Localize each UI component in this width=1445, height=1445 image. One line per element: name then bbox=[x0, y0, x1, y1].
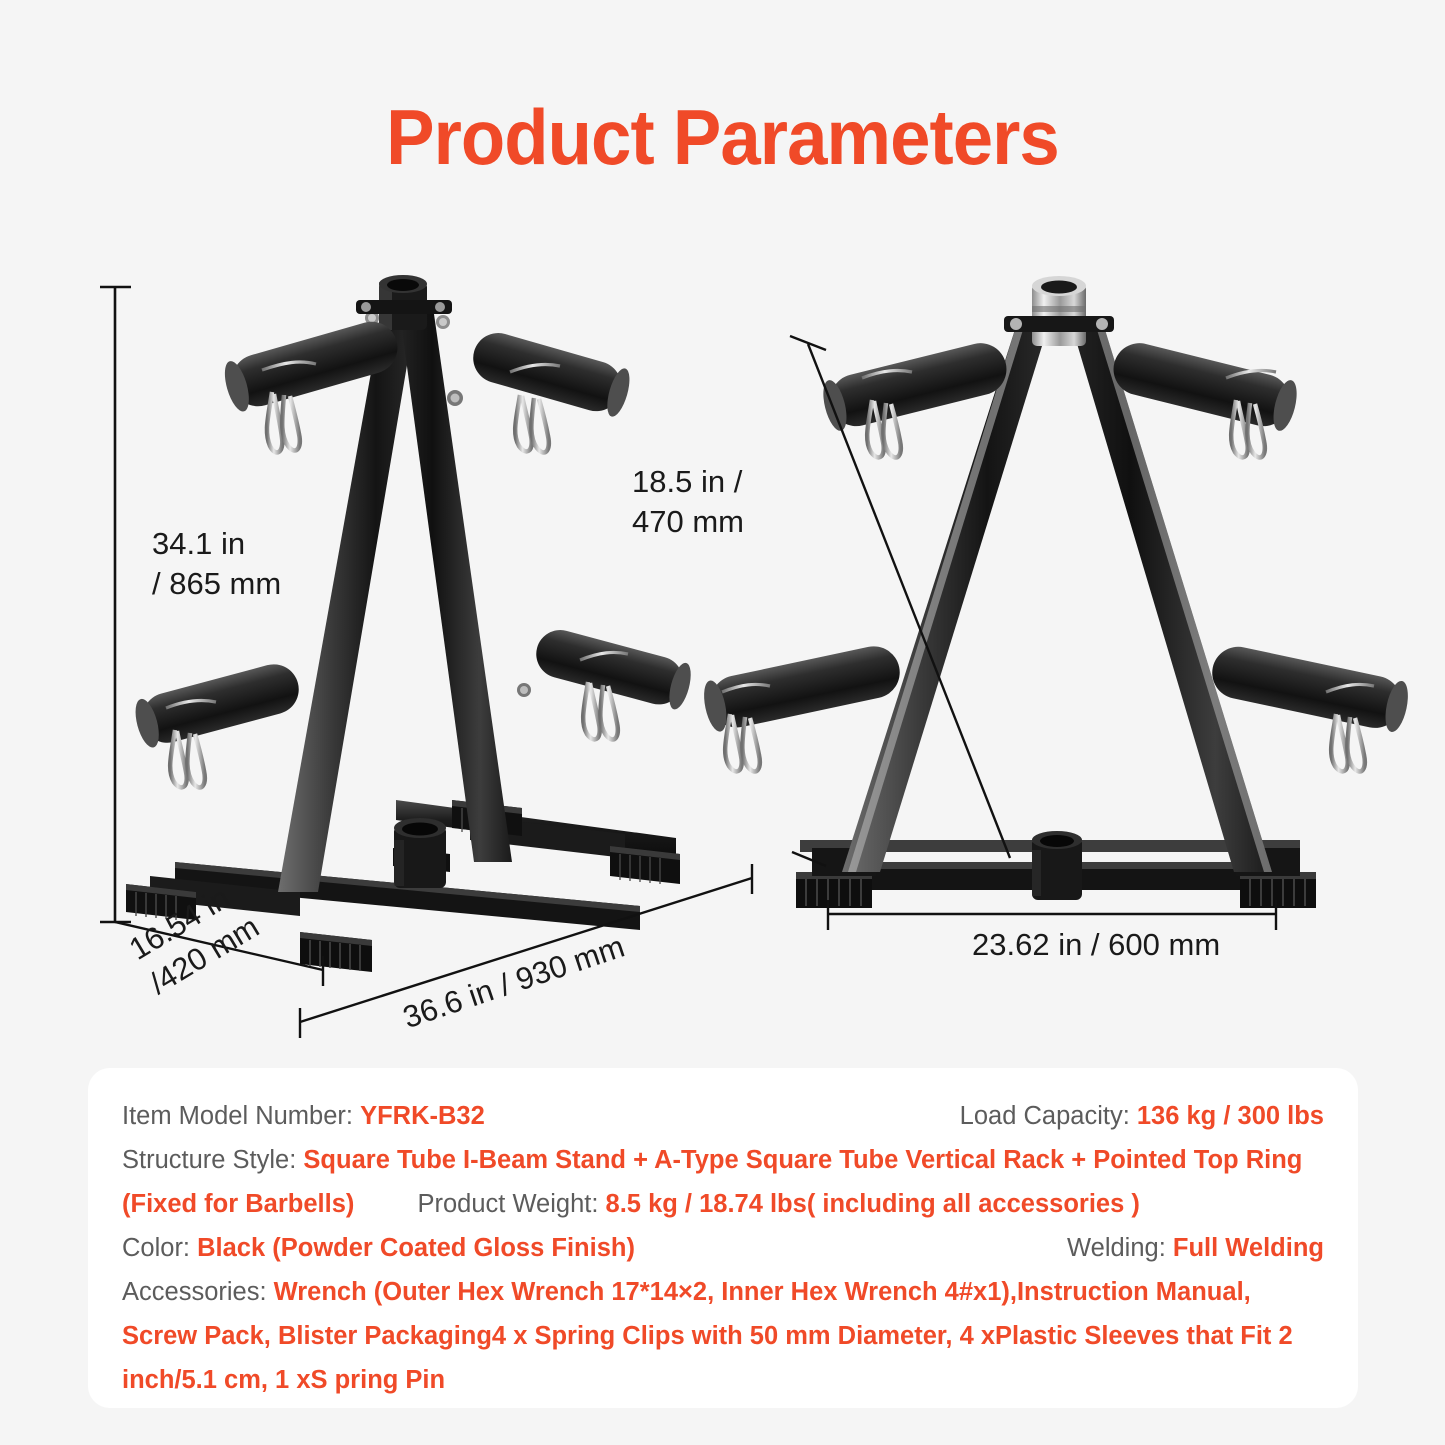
dimension-line-height bbox=[100, 287, 131, 922]
spec-label-structure-style: Structure Style: bbox=[122, 1146, 296, 1174]
barbell-holder-tube bbox=[1032, 831, 1082, 900]
spec-row-accessories: Accessories: Wrench (Outer Hex Wrench 17… bbox=[122, 1270, 1324, 1402]
spec-item-color: Color: Black (Powder Coated Gloss Finish… bbox=[122, 1226, 635, 1270]
product-parameters-page: Product Parameters bbox=[0, 0, 1445, 1445]
dimension-label-front-base: 23.62 in / 600 mm bbox=[972, 925, 1220, 965]
spec-value-product-weight: 8.5 kg / 18.74 lbs( including all access… bbox=[606, 1190, 1140, 1218]
dimension-label-height: 34.1 in / 865 mm bbox=[152, 524, 281, 603]
specifications-card: Item Model Number: YFRK-B32 Load Capacit… bbox=[88, 1068, 1358, 1408]
plate-post bbox=[1207, 642, 1411, 734]
spec-item-welding: Welding: Full Welding bbox=[1067, 1226, 1324, 1270]
plate-post bbox=[819, 338, 1012, 433]
barbell-holder-tube bbox=[394, 818, 446, 888]
foot-cap bbox=[1240, 872, 1316, 908]
spec-label-product-weight: Product Weight: bbox=[417, 1190, 598, 1218]
spec-label-model-number: Item Model Number: bbox=[122, 1102, 353, 1130]
bolt bbox=[436, 315, 450, 329]
spec-row-color-welding: Color: Black (Powder Coated Gloss Finish… bbox=[122, 1226, 1324, 1270]
spec-item-model-number: Item Model Number: YFRK-B32 bbox=[122, 1094, 485, 1138]
frame-leg-right bbox=[398, 300, 512, 862]
bolt bbox=[517, 683, 531, 697]
spec-value-accessories: Wrench (Outer Hex Wrench 17*14×2, Inner … bbox=[122, 1278, 1293, 1394]
spec-label-color: Color: bbox=[122, 1234, 190, 1262]
spec-row-model-capacity: Item Model Number: YFRK-B32 Load Capacit… bbox=[122, 1094, 1324, 1138]
spec-item-load-capacity: Load Capacity: 136 kg / 300 lbs bbox=[960, 1094, 1324, 1138]
spec-value-load-capacity: 136 kg / 300 lbs bbox=[1137, 1102, 1324, 1130]
spec-label-accessories: Accessories: bbox=[122, 1278, 267, 1306]
rack-front-view bbox=[700, 276, 1412, 930]
spec-value-model-number: YFRK-B32 bbox=[360, 1102, 485, 1130]
plate-post bbox=[1108, 338, 1301, 433]
plate-post bbox=[467, 327, 634, 419]
bolt bbox=[447, 390, 463, 406]
spec-value-welding: Full Welding bbox=[1173, 1234, 1324, 1262]
plate-post bbox=[131, 659, 304, 750]
dimension-label-frame-slant: 18.5 in / 470 mm bbox=[632, 462, 744, 541]
spec-value-color: Black (Powder Coated Gloss Finish) bbox=[197, 1234, 635, 1262]
spec-row-structure-style: Structure Style: Square Tube I-Beam Stan… bbox=[122, 1138, 1324, 1226]
spec-label-load-capacity: Load Capacity: bbox=[960, 1102, 1130, 1130]
foot-cap bbox=[796, 872, 872, 908]
spec-label-welding: Welding: bbox=[1067, 1234, 1166, 1262]
